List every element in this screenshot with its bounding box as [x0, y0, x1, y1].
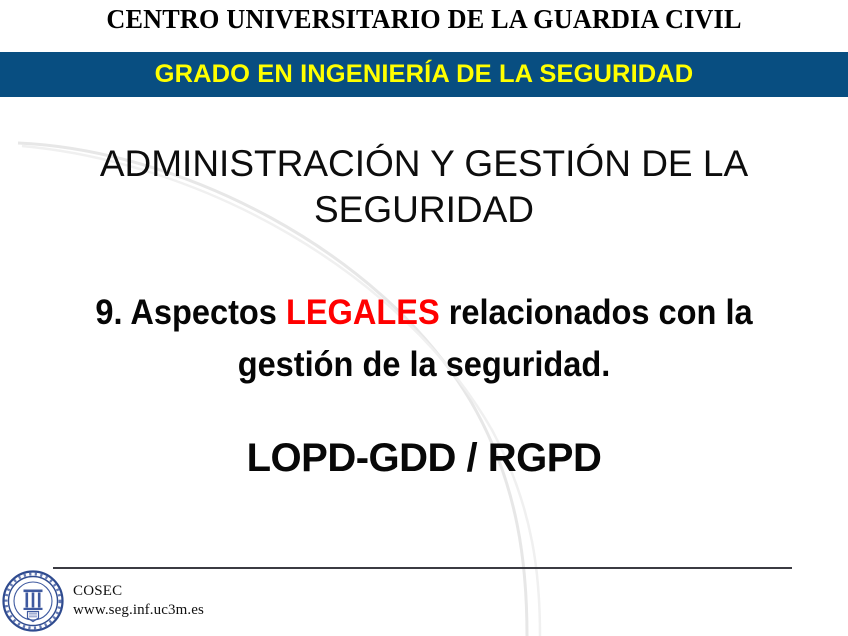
footer-text-block: COSEC www.seg.inf.uc3m.es	[73, 582, 204, 620]
footer-divider	[53, 567, 792, 569]
degree-banner-label: GRADO EN INGENIERÍA DE LA SEGURIDAD	[0, 52, 848, 97]
topic-title-highlight: LEGALES	[286, 293, 440, 332]
uc3m-seal-logo-icon	[2, 570, 64, 632]
course-title: ADMINISTRACIÓN Y GESTIÓN DE LA SEGURIDAD	[64, 141, 784, 233]
topic-title-prefix: 9. Aspectos	[95, 293, 286, 332]
degree-banner: GRADO EN INGENIERÍA DE LA SEGURIDAD	[0, 52, 848, 97]
institution-title: CENTRO UNIVERSITARIO DE LA GUARDIA CIVIL	[13, 4, 836, 35]
footer-website: www.seg.inf.uc3m.es	[73, 601, 204, 620]
footer-group-name: COSEC	[73, 582, 204, 601]
topic-title: 9. Aspectos LEGALES relacionados con la …	[67, 287, 781, 391]
slide-canvas: CENTRO UNIVERSITARIO DE LA GUARDIA CIVIL…	[0, 0, 848, 636]
slide-body: ADMINISTRACIÓN Y GESTIÓN DE LA SEGURIDAD…	[0, 97, 848, 557]
regulation-title: LOPD-GDD / RGPD	[40, 434, 808, 482]
